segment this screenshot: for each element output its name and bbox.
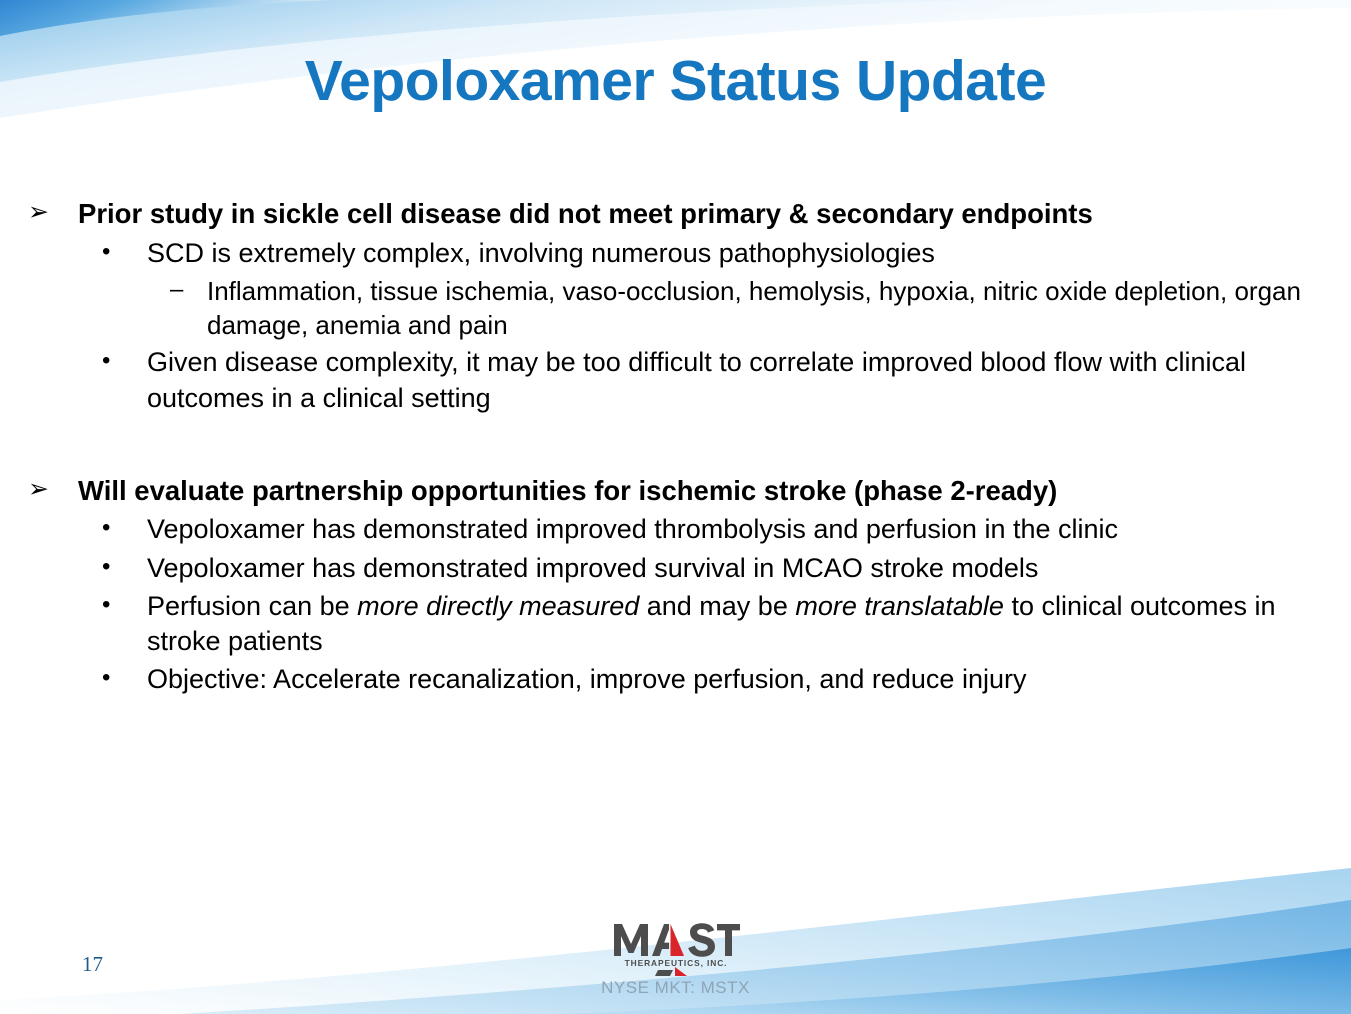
plain-text: Perfusion can be [147, 591, 357, 621]
list-item: • Perfusion can be more directly measure… [22, 589, 1312, 659]
footer-branding: THERAPEUTICS, INC. NYSE MKT: MSTX [0, 920, 1351, 998]
arrow-bullet-icon: ➢ [22, 196, 78, 230]
section-heading: ➢ Will evaluate partnership opportunitie… [22, 473, 1312, 509]
list-item-text: Inflammation, tissue ischemia, vaso-occl… [207, 274, 1312, 343]
list-item-text: Vepoloxamer has demonstrated improved th… [147, 512, 1312, 547]
plain-text: and may be [639, 591, 795, 621]
page-title: Vepoloxamer Status Update [0, 48, 1351, 114]
content-section: ➢ Prior study in sickle cell disease did… [22, 196, 1312, 416]
list-item: • Objective: Accelerate recanalization, … [22, 662, 1312, 697]
arrow-bullet-icon: ➢ [22, 473, 78, 507]
list-item: • SCD is extremely complex, involving nu… [22, 236, 1312, 271]
stock-ticker: NYSE MKT: MSTX [0, 978, 1351, 998]
list-item: – Inflammation, tissue ischemia, vaso-oc… [22, 274, 1312, 343]
svg-text:THERAPEUTICS, INC.: THERAPEUTICS, INC. [624, 958, 727, 968]
list-item-text: Vepoloxamer has demonstrated improved su… [147, 551, 1312, 586]
emphasized-text: more directly measured [357, 591, 639, 621]
section-heading-text: Prior study in sickle cell disease did n… [78, 196, 1312, 232]
list-item-text: Perfusion can be more directly measured … [147, 589, 1312, 659]
list-item-text: Given disease complexity, it may be too … [147, 345, 1312, 415]
list-item-text: Objective: Accelerate recanalization, im… [147, 662, 1312, 697]
dot-bullet-icon: • [22, 236, 147, 267]
list-item: • Given disease complexity, it may be to… [22, 345, 1312, 415]
mast-therapeutics-logo: THERAPEUTICS, INC. [612, 920, 740, 976]
dot-bullet-icon: • [22, 662, 147, 693]
section-heading: ➢ Prior study in sickle cell disease did… [22, 196, 1312, 232]
emphasized-text: more translatable [795, 591, 1004, 621]
dot-bullet-icon: • [22, 512, 147, 543]
list-item-text: SCD is extremely complex, involving nume… [147, 236, 1312, 271]
dot-bullet-icon: • [22, 551, 147, 582]
dash-bullet-icon: – [22, 274, 207, 306]
list-item: • Vepoloxamer has demonstrated improved … [22, 551, 1312, 586]
section-heading-text: Will evaluate partnership opportunities … [78, 473, 1312, 509]
list-item: • Vepoloxamer has demonstrated improved … [22, 512, 1312, 547]
dot-bullet-icon: • [22, 589, 147, 620]
slide: Vepoloxamer Status Update ➢ Prior study … [0, 0, 1351, 1014]
section-spacer [22, 419, 1312, 473]
dot-bullet-icon: • [22, 345, 147, 376]
content-section: ➢ Will evaluate partnership opportunitie… [22, 473, 1312, 697]
slide-body: ➢ Prior study in sickle cell disease did… [22, 196, 1312, 700]
